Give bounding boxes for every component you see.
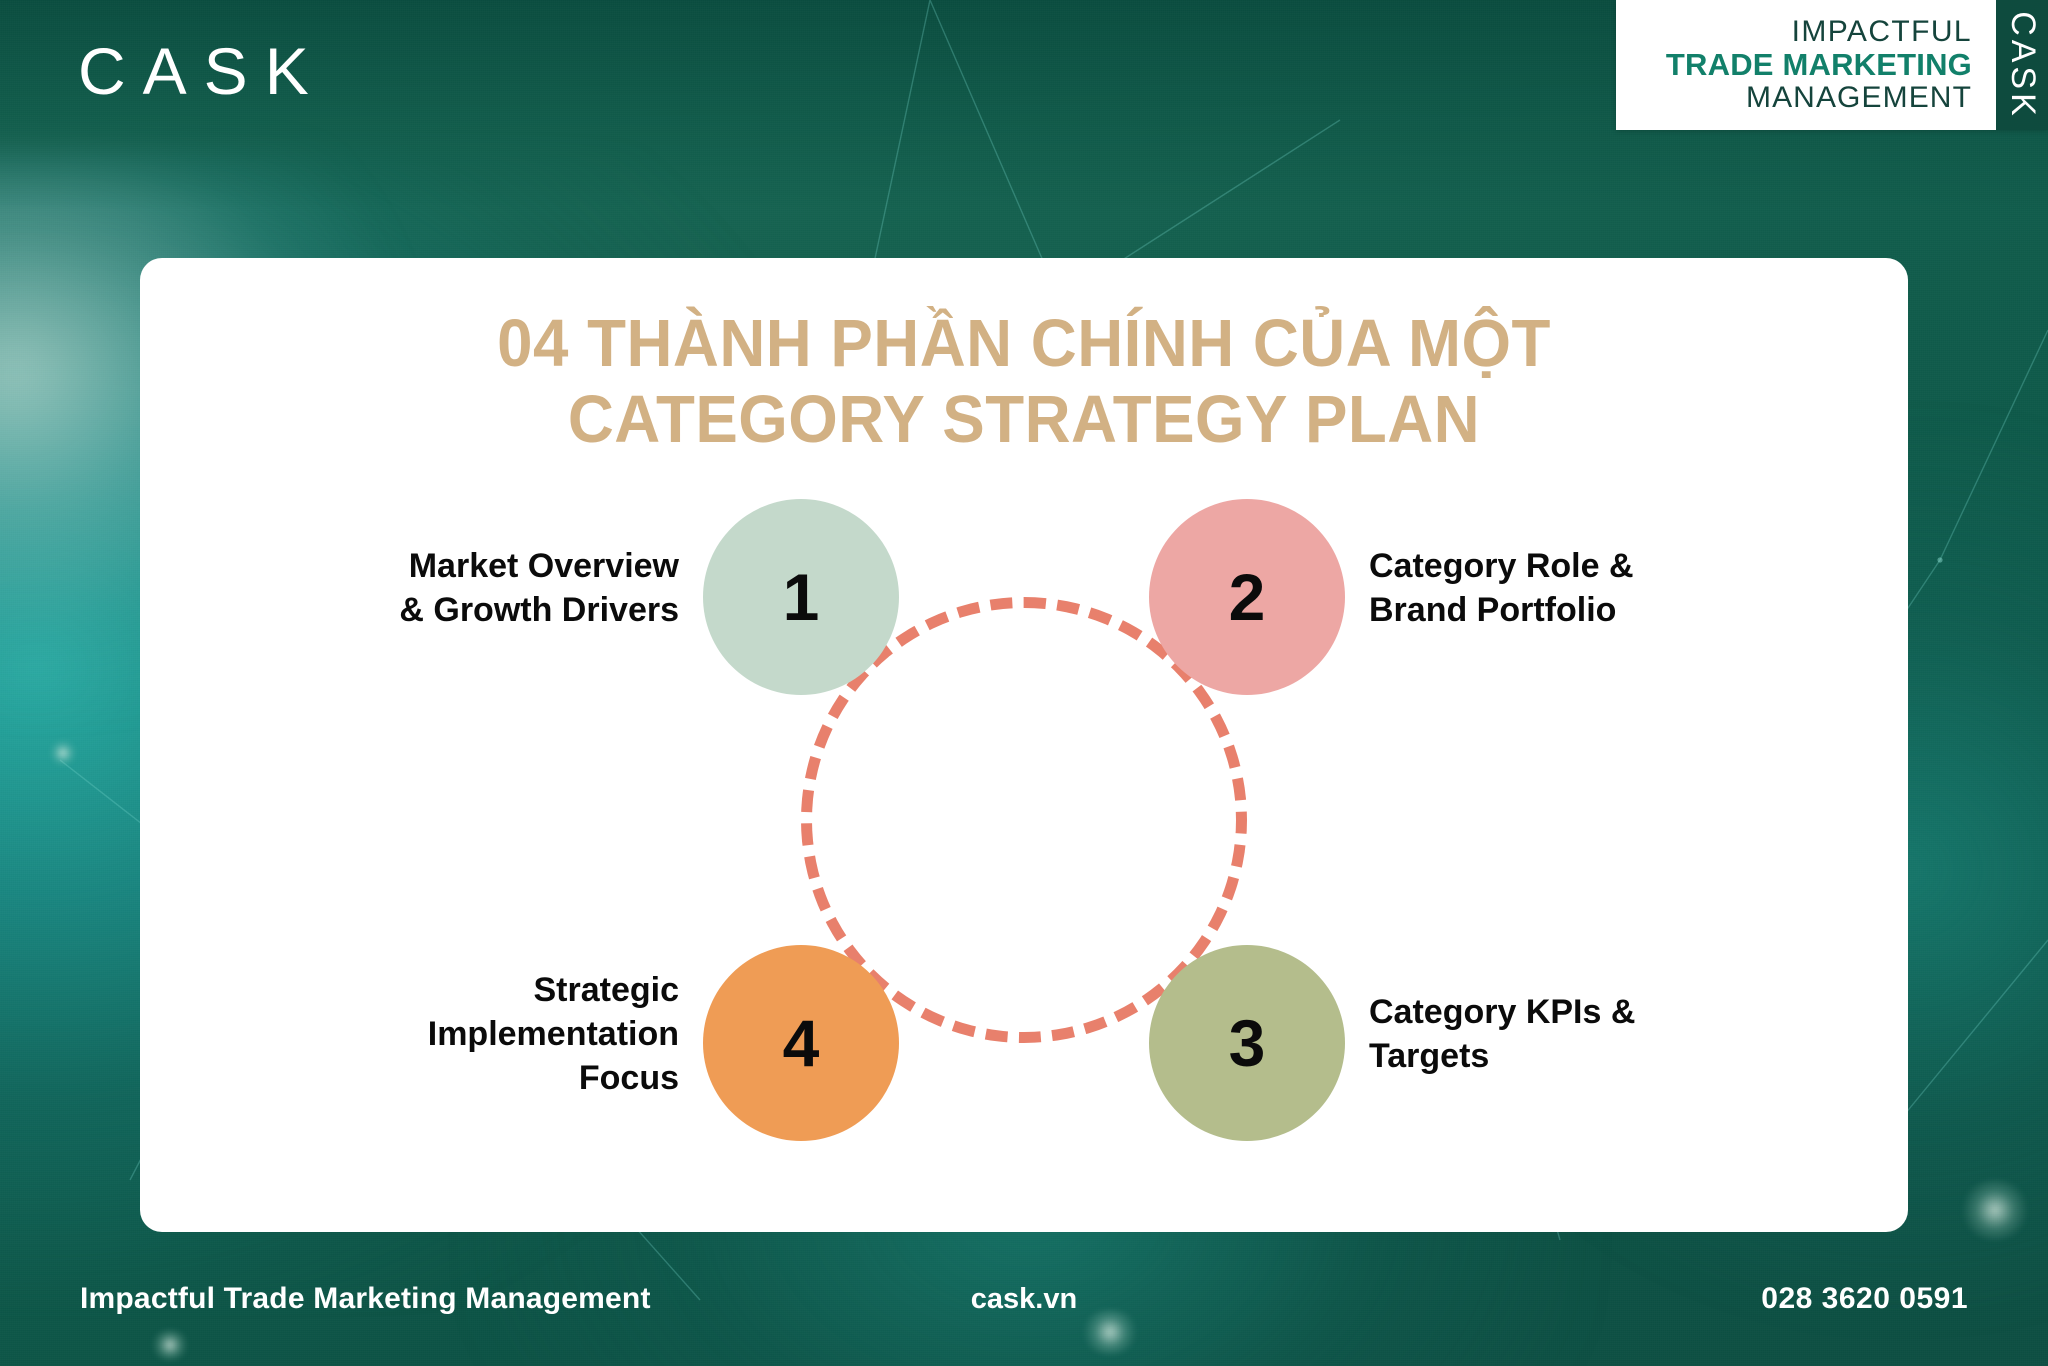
program-badge: IMPACTFUL TRADE MARKETING MANAGEMENT CAS…	[1616, 0, 2048, 130]
diagram-node-3-number: 3	[1229, 1005, 1266, 1081]
diagram-node-1-number: 1	[783, 559, 820, 635]
diagram-label-3: Category KPIs & Targets	[1369, 990, 1789, 1078]
badge-cask-strip-label: CASK	[2003, 11, 2042, 120]
diagram-label-4-line-2: Implementation	[259, 1012, 679, 1056]
diagram-label-4: Strategic Implementation Focus	[259, 968, 679, 1101]
page-title-line-2: CATEGORY STRATEGY PLAN	[184, 382, 1864, 458]
footer-phone[interactable]: 028 3620 0591	[1761, 1282, 1968, 1316]
diagram-label-2: Category Role & Brand Portfolio	[1369, 544, 1789, 632]
diagram-node-1[interactable]: 1	[703, 499, 899, 695]
diagram-node-2-number: 2	[1229, 559, 1266, 635]
badge-line-management: MANAGEMENT	[1746, 81, 1972, 114]
diagram-label-1-line-2: & Growth Drivers	[259, 588, 679, 632]
page-title-line-1: 04 THÀNH PHẦN CHÍNH CỦA MỘT	[184, 306, 1864, 382]
diagram-node-4-number: 4	[783, 1005, 820, 1081]
diagram-node-2[interactable]: 2	[1149, 499, 1345, 695]
footer-bar: Impactful Trade Marketing Management cas…	[0, 1232, 2048, 1366]
cycle-diagram: 1 2 3 4 Market Overview & Growth Drivers…	[140, 510, 1908, 1130]
diagram-node-3[interactable]: 3	[1149, 945, 1345, 1141]
program-badge-text: IMPACTFUL TRADE MARKETING MANAGEMENT	[1616, 0, 1996, 130]
slide-root: CASK IMPACTFUL TRADE MARKETING MANAGEMEN…	[0, 0, 2048, 1366]
badge-line-impactful: IMPACTFUL	[1792, 16, 1972, 48]
footer-website[interactable]: cask.vn	[971, 1283, 1077, 1316]
content-card: 04 THÀNH PHẦN CHÍNH CỦA MỘT CATEGORY STR…	[140, 258, 1908, 1232]
diagram-label-4-line-1: Strategic	[259, 968, 679, 1012]
badge-cask-strip: CASK	[1996, 0, 2048, 130]
diagram-label-2-line-2: Brand Portfolio	[1369, 588, 1789, 632]
page-title: 04 THÀNH PHẦN CHÍNH CỦA MỘT CATEGORY STR…	[184, 306, 1864, 459]
diagram-label-4-line-3: Focus	[259, 1056, 679, 1100]
diagram-label-1-line-1: Market Overview	[259, 544, 679, 588]
diagram-label-2-line-1: Category Role &	[1369, 544, 1789, 588]
footer-program-name: Impactful Trade Marketing Management	[80, 1282, 651, 1316]
badge-line-trade-marketing: TRADE MARKETING	[1666, 48, 1972, 81]
diagram-node-4[interactable]: 4	[703, 945, 899, 1141]
diagram-label-1: Market Overview & Growth Drivers	[259, 544, 679, 632]
diagram-label-3-line-1: Category KPIs &	[1369, 990, 1789, 1034]
cask-logo: CASK	[78, 38, 326, 104]
diagram-label-3-line-2: Targets	[1369, 1034, 1789, 1078]
